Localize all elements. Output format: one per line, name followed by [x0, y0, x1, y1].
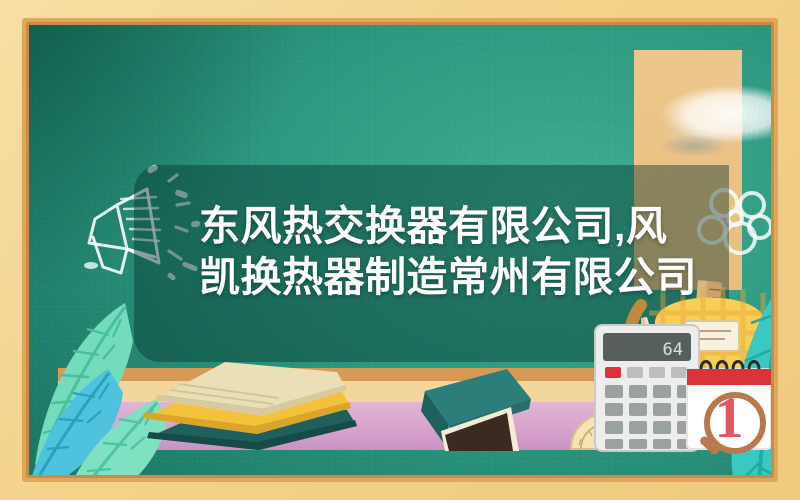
book-dark-mid [415, 365, 533, 451]
stacked-books [141, 354, 361, 450]
poster-canvas: 64 [0, 0, 800, 500]
title-line-2: 凯换热器制造常州有限公司 [199, 252, 719, 303]
page-title: 东风热交换器有限公司,风 凯换热器制造常州有限公司 [199, 201, 719, 303]
chalkboard: 64 [29, 25, 771, 475]
title-line-1: 东风热交换器有限公司,风 [199, 201, 719, 252]
desk-calendar-with-magnifier: 1 [677, 353, 771, 455]
